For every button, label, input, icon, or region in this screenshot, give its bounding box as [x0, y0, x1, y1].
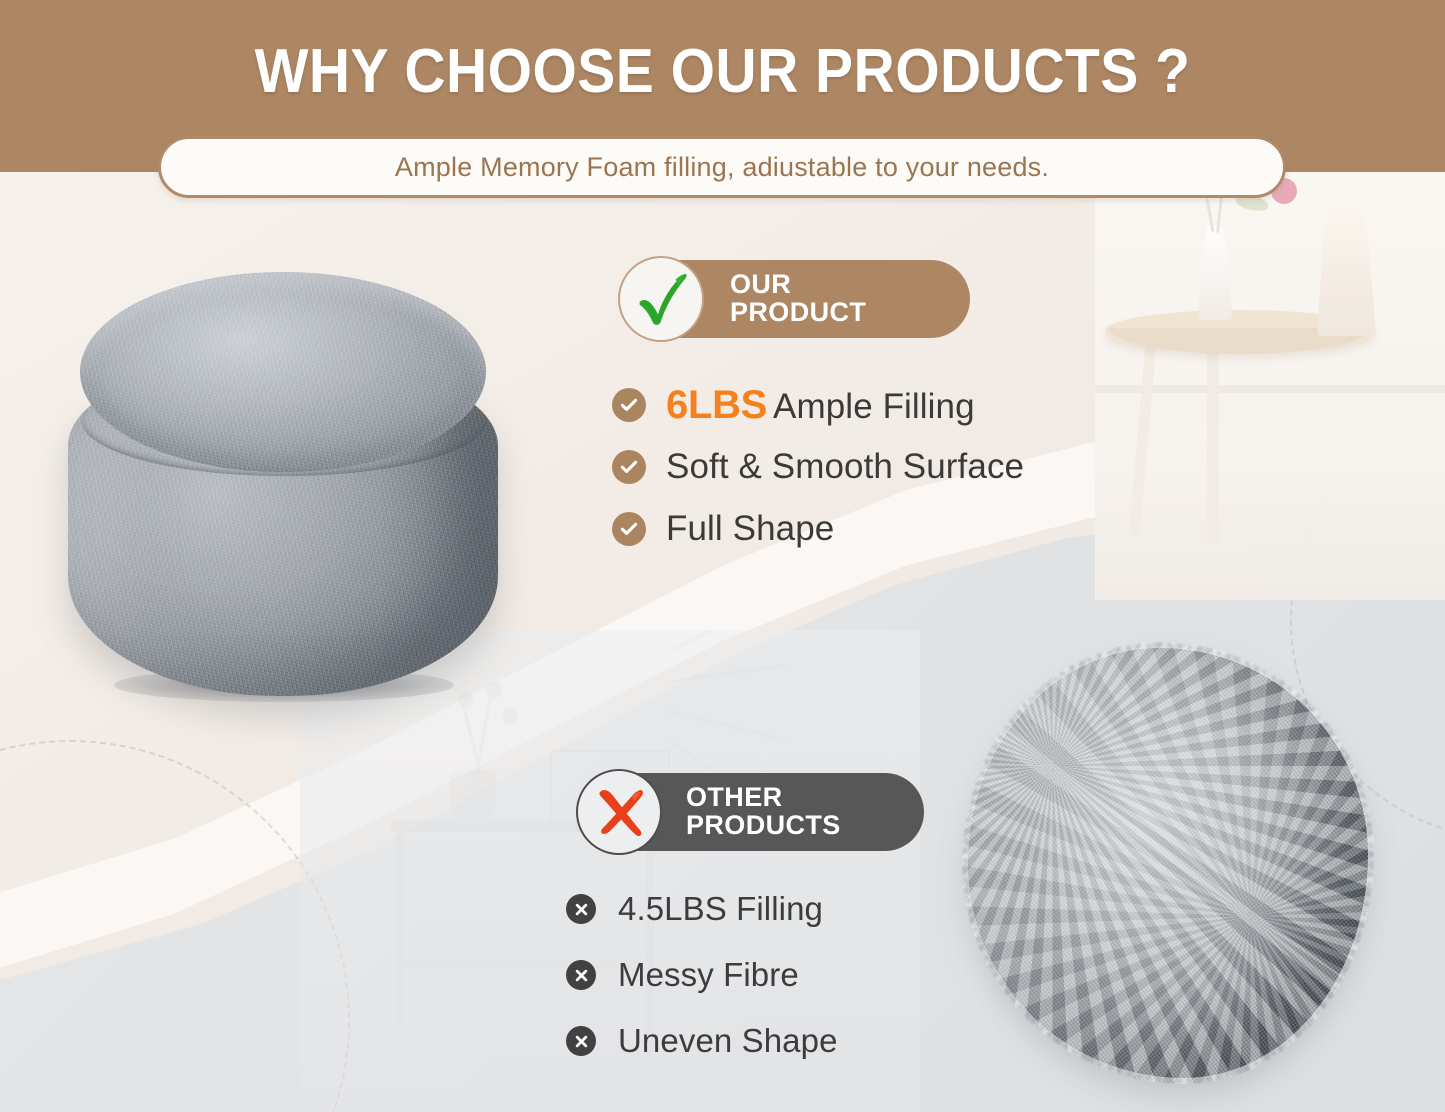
our-product-feature-list: 6LBSAmple Filling Soft & Smooth Surface … — [612, 382, 1024, 568]
feature-text: 4.5LBS Filling — [618, 890, 823, 928]
our-product-image-gray-furry-pouf — [68, 238, 498, 718]
palm-plant-silhouette — [630, 630, 890, 900]
x-circle-icon — [566, 960, 596, 990]
list-item: Uneven Shape — [566, 1020, 838, 1062]
x-circle-icon — [566, 894, 596, 924]
badge-line-2: PRODUCTS — [686, 812, 841, 840]
feature-text: Messy Fibre — [618, 956, 799, 994]
ragged-edge — [963, 643, 1373, 1083]
check-circle-icon — [612, 512, 646, 546]
subtitle-pill: Ample Memory Foam filling, adiustable to… — [158, 136, 1286, 198]
list-item: Full Shape — [612, 506, 1024, 552]
x-circle-icon — [566, 1026, 596, 1056]
other-product-image-shaggy-uneven-pouf — [968, 648, 1368, 1078]
page-title: WHY CHOOSE OUR PRODUCTS ? — [58, 36, 1387, 107]
list-item: Messy Fibre — [566, 954, 838, 996]
feature-highlight: 6LBS — [666, 383, 767, 427]
list-item: Soft & Smooth Surface — [612, 444, 1024, 490]
subtitle-text: Ample Memory Foam filling, adiustable to… — [395, 152, 1049, 183]
feature-text: Uneven Shape — [618, 1022, 838, 1060]
list-item: 6LBSAmple Filling — [612, 382, 1024, 428]
red-x-brush-icon — [576, 769, 662, 855]
infographic-page: WHY CHOOSE OUR PRODUCTS ? Ample Memory F… — [0, 0, 1445, 1112]
our-product-badge: OUR PRODUCT — [620, 260, 970, 338]
feature-text: Full Shape — [666, 509, 834, 549]
console-table-leg — [396, 826, 404, 1076]
table-leg — [1207, 348, 1219, 543]
palm-frond — [670, 663, 789, 683]
our-product-badge-label: OUR PRODUCT — [730, 271, 866, 326]
feature-text: 6LBSAmple Filling — [666, 383, 975, 428]
scene-top-right-living-room — [1095, 170, 1445, 600]
badge-line-1: OUR — [730, 271, 866, 299]
palm-frond — [669, 630, 776, 653]
pouf-seam — [82, 366, 486, 476]
check-circle-icon — [612, 450, 646, 484]
plant-leaf — [502, 708, 518, 724]
badge-line-1: OTHER — [686, 784, 841, 812]
list-item: 4.5LBS Filling — [566, 888, 838, 930]
feature-text: Soft & Smooth Surface — [666, 447, 1024, 487]
other-products-feature-list: 4.5LBS Filling Messy Fibre Uneven Shape — [566, 888, 838, 1086]
badge-line-2: PRODUCT — [730, 299, 866, 327]
green-check-brush-icon — [618, 256, 704, 342]
other-products-badge-label: OTHER PRODUCTS — [686, 784, 841, 839]
check-circle-icon — [612, 388, 646, 422]
plant-pot — [450, 770, 496, 826]
feature-label: Ample Filling — [773, 387, 975, 426]
other-products-badge: OTHER PRODUCTS — [578, 773, 924, 851]
palm-frond — [670, 710, 787, 742]
